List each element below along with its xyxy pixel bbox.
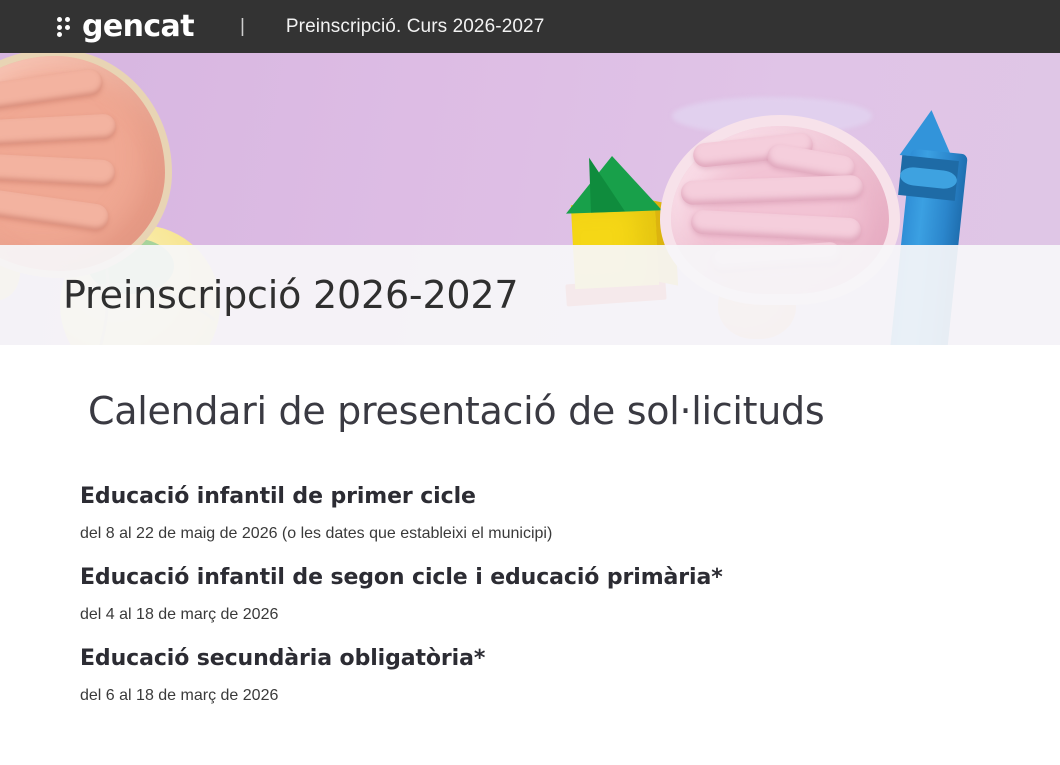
page-title: Calendari de presentació de sol·licituds xyxy=(0,345,1060,434)
hero-band-title: Preinscripció 2026-2027 xyxy=(63,276,518,314)
page-root: gencat | Preinscripció. Curs 2026-2027 xyxy=(0,0,1060,765)
section-title: Educació secundària obligatòria* xyxy=(80,646,1060,672)
block-roof-shade-icon xyxy=(589,156,625,212)
calendar-section: Educació infantil de primer cicle del 8 … xyxy=(0,484,1060,565)
section-title: Educació infantil de primer cicle xyxy=(80,484,1060,510)
calendar-section: Educació secundària obligatòria* del 6 a… xyxy=(0,646,1060,727)
header-title: Preinscripció. Curs 2026-2027 xyxy=(286,16,544,38)
header-separator: | xyxy=(240,17,245,36)
calendar-section: Educació infantil de segon cicle i educa… xyxy=(0,565,1060,646)
calendar-sections: Educació infantil de primer cicle del 8 … xyxy=(0,434,1060,728)
main-content: Calendari de presentació de sol·licituds… xyxy=(0,345,1060,765)
section-dates: del 8 al 22 de maig de 2026 (o les dates… xyxy=(80,510,1060,565)
gencat-logo[interactable]: gencat xyxy=(57,0,194,53)
top-header-bar: gencat | Preinscripció. Curs 2026-2027 xyxy=(0,0,1060,53)
gencat-logo-text: gencat xyxy=(82,12,194,42)
section-dates: del 4 al 18 de març de 2026 xyxy=(80,591,1060,646)
section-dates: del 6 al 18 de març de 2026 xyxy=(80,672,1060,727)
section-title: Educació infantil de segon cicle i educa… xyxy=(80,565,1060,591)
hero-title-band: Preinscripció 2026-2027 xyxy=(0,245,1060,345)
gencat-dot-grid-icon xyxy=(57,17,77,37)
